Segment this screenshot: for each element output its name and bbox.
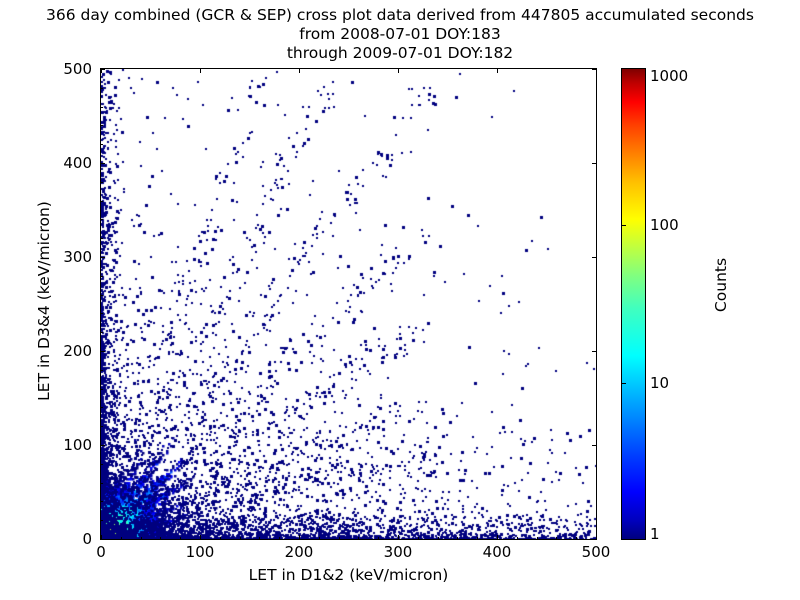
x-tick-mark [200, 535, 201, 539]
y-minor-tick [101, 107, 103, 108]
x-axis-label: LET in D1&2 (keV/micron) [100, 566, 597, 584]
y-axis-label: LET in D3&4 (keV/micron) [35, 151, 53, 451]
x-tick-mark [398, 535, 399, 539]
y-minor-tick [101, 201, 103, 202]
y-tick-mark-right [592, 257, 596, 258]
x-minor-tick [438, 537, 439, 539]
x-minor-tick [358, 537, 359, 539]
x-tick-label: 0 [96, 543, 106, 561]
x-minor-tick [339, 537, 340, 539]
x-minor-tick [220, 537, 221, 539]
x-minor-tick [556, 537, 557, 539]
colorbar-tick-mark [622, 225, 626, 226]
y-minor-tick [101, 407, 103, 408]
x-minor-tick [517, 537, 518, 539]
x-minor-tick [121, 537, 122, 539]
y-tick-mark [101, 539, 105, 540]
x-tick-mark-top [497, 69, 498, 73]
colorbar-tick-label: 100 [650, 216, 679, 234]
y-minor-tick [101, 182, 103, 183]
y-minor-tick [101, 88, 103, 89]
x-minor-tick [319, 537, 320, 539]
y-tick-mark [101, 69, 105, 70]
plot-axes [100, 68, 597, 540]
scatter-density-plot [101, 69, 596, 539]
x-tick-label: 500 [582, 543, 611, 561]
y-minor-tick [101, 483, 103, 484]
y-minor-tick [101, 276, 103, 277]
y-minor-tick [101, 219, 103, 220]
figure-title: 366 day combined (GCR & SEP) cross plot … [0, 6, 800, 63]
y-tick-label: 0 [48, 530, 92, 548]
y-tick-label: 100 [48, 436, 92, 454]
title-line-3: through 2009-07-01 DOY:182 [0, 44, 800, 63]
y-tick-mark-right [592, 445, 596, 446]
x-minor-tick [240, 537, 241, 539]
colorbar-gradient [621, 68, 646, 540]
colorbar-tick-label: 10 [650, 374, 669, 392]
y-tick-mark [101, 445, 105, 446]
y-minor-tick [101, 501, 103, 502]
title-line-1: 366 day combined (GCR & SEP) cross plot … [0, 6, 800, 25]
y-tick-mark-right [592, 539, 596, 540]
y-tick-mark-right [592, 69, 596, 70]
title-line-2: from 2008-07-01 DOY:183 [0, 25, 800, 44]
y-minor-tick [101, 332, 103, 333]
x-minor-tick [457, 537, 458, 539]
x-minor-tick [477, 537, 478, 539]
y-tick-mark [101, 163, 105, 164]
x-minor-tick [160, 537, 161, 539]
colorbar-label: Counts [712, 205, 730, 365]
y-tick-label: 300 [48, 248, 92, 266]
x-minor-tick [259, 537, 260, 539]
y-tick-label: 400 [48, 154, 92, 172]
x-minor-tick [576, 537, 577, 539]
x-minor-tick [141, 537, 142, 539]
y-minor-tick [101, 295, 103, 296]
x-minor-tick [418, 537, 419, 539]
x-tick-label: 100 [186, 543, 215, 561]
x-minor-tick [537, 537, 538, 539]
x-tick-mark [299, 535, 300, 539]
x-tick-label: 400 [483, 543, 512, 561]
x-tick-mark-top [398, 69, 399, 73]
y-minor-tick [101, 370, 103, 371]
y-minor-tick [101, 389, 103, 390]
y-tick-mark-right [592, 351, 596, 352]
colorbar-tick-mark [622, 383, 626, 384]
y-tick-mark [101, 351, 105, 352]
x-tick-mark [497, 535, 498, 539]
y-tick-mark-right [592, 163, 596, 164]
y-tick-label: 200 [48, 342, 92, 360]
x-tick-mark-top [596, 69, 597, 73]
x-minor-tick [378, 537, 379, 539]
y-minor-tick [101, 426, 103, 427]
y-minor-tick [101, 520, 103, 521]
x-tick-mark-top [200, 69, 201, 73]
y-tick-label: 500 [48, 60, 92, 78]
x-minor-tick [279, 537, 280, 539]
colorbar-tick-label: 1 [650, 525, 660, 543]
y-minor-tick [101, 313, 103, 314]
y-minor-tick [101, 125, 103, 126]
colorbar-tick-label: 1000 [650, 67, 688, 85]
y-minor-tick [101, 144, 103, 145]
x-tick-mark-top [299, 69, 300, 73]
x-tick-label: 300 [384, 543, 413, 561]
y-minor-tick [101, 464, 103, 465]
x-tick-mark [596, 535, 597, 539]
x-tick-label: 200 [285, 543, 314, 561]
colorbar-container [621, 68, 646, 540]
figure-canvas: 366 day combined (GCR & SEP) cross plot … [0, 0, 800, 600]
y-tick-mark [101, 257, 105, 258]
y-minor-tick [101, 238, 103, 239]
x-minor-tick [180, 537, 181, 539]
